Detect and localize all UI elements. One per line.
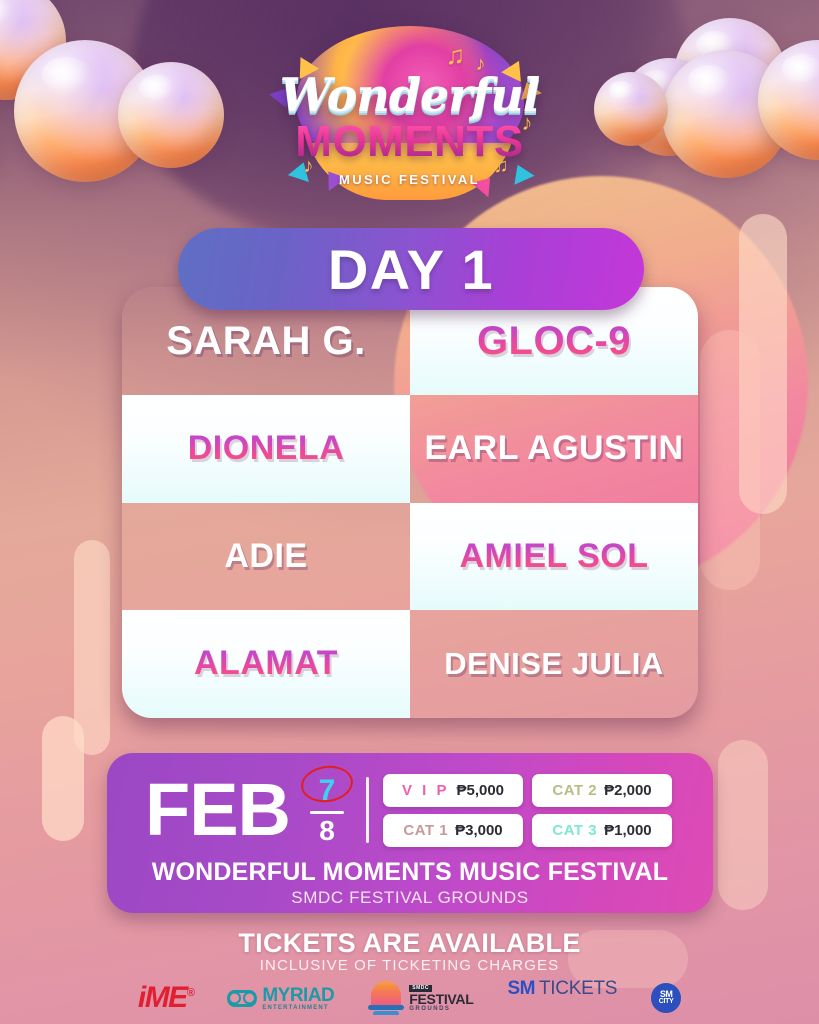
ticket-price-value: ₱5,000	[456, 782, 504, 799]
ticket-tier-label: CAT 2	[552, 782, 597, 799]
lineup-cell: EARL AGUSTIN	[410, 395, 698, 503]
bubble-cluster-right	[600, 0, 819, 199]
artist-name: GLOC-9	[477, 320, 631, 362]
background-pill-shape	[42, 716, 84, 841]
sponsor-ime: iME®	[138, 978, 193, 1018]
sm-city-logo-icon: SM CITY	[651, 983, 681, 1013]
lineup-cell: ALAMAT	[122, 610, 410, 718]
bubble-cluster-left	[0, 0, 264, 196]
music-note-icon: ♫	[446, 42, 466, 68]
ticket-price-value: ₱1,000	[604, 822, 652, 839]
artist-name: ADIE	[224, 539, 307, 575]
background-pill-shape	[718, 740, 768, 910]
sponsor-fg-label: FESTIVAL	[409, 992, 473, 1006]
sponsor-sm-bold: SM	[508, 978, 536, 1000]
festival-poster: ♫ ♪ ♪ ♪ ♫ Wonderful MOMENTS MUSIC FESTIV…	[0, 0, 819, 1024]
sponsor-myriad-label: MYRIAD	[262, 986, 334, 1005]
event-title: WONDERFUL MOMENTS MUSIC FESTIVAL	[107, 858, 713, 887]
artist-name: AMIEL SOL	[460, 539, 649, 575]
artist-name: EARL AGUSTIN	[424, 431, 683, 467]
date-divider	[310, 811, 344, 814]
logo-subtitle: MUSIC FESTIVAL	[260, 172, 560, 187]
sunset-icon	[368, 981, 404, 1015]
sponsor-ime-label: iME	[138, 981, 187, 1014]
sponsor-logo-row: iME® MYRIAD ENTERTAINMENT SMDC FESTIVAL …	[0, 974, 819, 1022]
bubble	[118, 62, 224, 168]
sponsor-festival-grounds: SMDC FESTIVAL GROUNDS	[368, 978, 473, 1018]
date-stack: 7 8	[298, 768, 356, 852]
artist-name: ALAMAT	[194, 646, 338, 682]
vertical-divider	[366, 777, 369, 843]
artist-name: SARAH G.	[166, 320, 366, 362]
sponsor-sm-light: TICKETS	[539, 978, 617, 1000]
day-banner-label: DAY 1	[328, 237, 494, 302]
date-and-price-panel: FEB 7 8 V I P ₱5,000 CAT 2 ₱2,000 CAT 1	[107, 753, 713, 913]
lineup-cell: ADIE	[122, 503, 410, 611]
lineup-cell: DENISE JULIA	[410, 610, 698, 718]
background-pill-shape	[74, 540, 110, 755]
ticket-tier-label: CAT 3	[552, 822, 597, 839]
ticket-tier-label: V I P	[402, 782, 450, 799]
date-price-row: FEB 7 8 V I P ₱5,000 CAT 2 ₱2,000 CAT 1	[107, 767, 713, 853]
ticket-tier-label: CAT 1	[403, 822, 448, 839]
ticket-chip[interactable]: CAT 3 ₱1,000	[532, 814, 672, 847]
logo-main-word: MOMENTS	[260, 117, 560, 167]
background-pill-shape	[700, 330, 760, 590]
ticket-chip[interactable]: CAT 2 ₱2,000	[532, 774, 672, 807]
sponsor-myriad: MYRIAD ENTERTAINMENT	[227, 978, 334, 1018]
sponsor-sm-tickets: SM TICKETS	[508, 978, 618, 1018]
lineup-cell: DIONELA	[122, 395, 410, 503]
day-banner: DAY 1	[178, 228, 644, 310]
ticket-price-value: ₱2,000	[604, 782, 652, 799]
logo-script-word: Wonderful	[260, 68, 560, 122]
ticket-price-value: ₱3,000	[455, 822, 503, 839]
festival-logo: ♫ ♪ ♪ ♪ ♫ Wonderful MOMENTS MUSIC FESTIV…	[260, 20, 560, 198]
event-venue: SMDC FESTIVAL GROUNDS	[107, 888, 713, 908]
artist-name: DENISE JULIA	[444, 648, 664, 681]
lineup-card: SARAH G. GLOC-9 DIONELA EARL AGUSTIN ADI…	[122, 287, 698, 718]
ticket-chip[interactable]: V I P ₱5,000	[383, 774, 523, 807]
footer-headline: TICKETS ARE AVAILABLE	[0, 928, 819, 959]
registered-mark-icon: ®	[187, 987, 194, 999]
bubble	[594, 72, 668, 146]
lineup-cell: AMIEL SOL	[410, 503, 698, 611]
ticket-chip[interactable]: CAT 1 ₱3,000	[383, 814, 523, 847]
sm-city-sub: CITY	[659, 999, 674, 1006]
sponsor-myriad-tagline: ENTERTAINMENT	[262, 1005, 334, 1011]
month-label: FEB	[145, 777, 290, 842]
ticket-price-grid: V I P ₱5,000 CAT 2 ₱2,000 CAT 1 ₱3,000 C…	[383, 774, 672, 847]
sponsor-sm-city: SM CITY	[651, 978, 681, 1018]
date-secondary: 8	[319, 817, 335, 845]
footer-subline: INCLUSIVE OF TICKETING CHARGES	[0, 957, 819, 974]
artist-name: DIONELA	[188, 431, 345, 467]
date-primary: 7	[319, 776, 336, 806]
sponsor-fg-tagline: GROUNDS	[409, 1006, 473, 1012]
infinity-icon	[227, 990, 257, 1007]
